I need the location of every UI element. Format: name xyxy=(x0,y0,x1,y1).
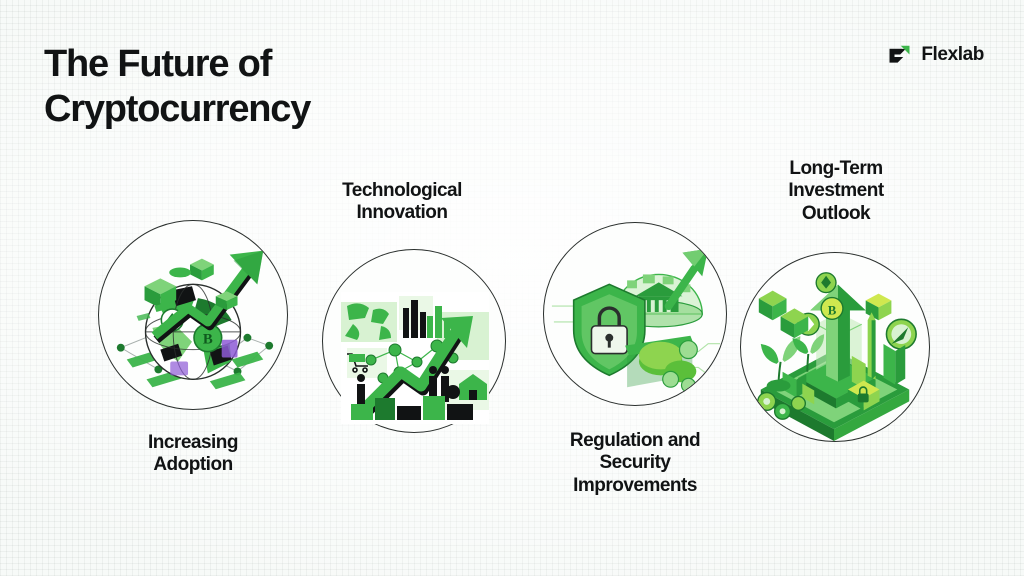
flexlab-arrow-logo-icon xyxy=(887,42,912,67)
shield-padlock-dome-coins-illustration xyxy=(544,223,726,405)
feature-label-long-term-investment-outlook: Long-Term Investment Outlook xyxy=(740,158,932,225)
brand-logo: Flexlab xyxy=(887,42,984,67)
svg-text:B: B xyxy=(203,332,213,348)
feature-circle-regulation-and-security xyxy=(543,222,727,406)
slide-root: The Future of Cryptocurrency Flexlab xyxy=(0,0,1024,576)
feature-label-regulation-and-security: Regulation and Security Improvements xyxy=(512,430,758,497)
world-map-city-growth-arrow-illustration xyxy=(341,292,489,424)
isometric-crypto-city-growth-illustration: B xyxy=(741,253,929,441)
feature-label-increasing-adoption: Increasing Adoption xyxy=(93,432,293,477)
feature-circle-long-term-investment-outlook: B xyxy=(740,252,930,442)
brand-name: Flexlab xyxy=(921,44,984,66)
feature-circle-increasing-adoption: B xyxy=(98,220,288,410)
globe-network-crypto-growth-illustration: B xyxy=(99,221,287,409)
feature-label-technological-innovation: Technological Innovation xyxy=(300,180,504,225)
page-title: The Future of Cryptocurrency xyxy=(44,42,310,132)
svg-text:B: B xyxy=(828,303,837,317)
feature-circle-technological-innovation xyxy=(322,249,506,433)
